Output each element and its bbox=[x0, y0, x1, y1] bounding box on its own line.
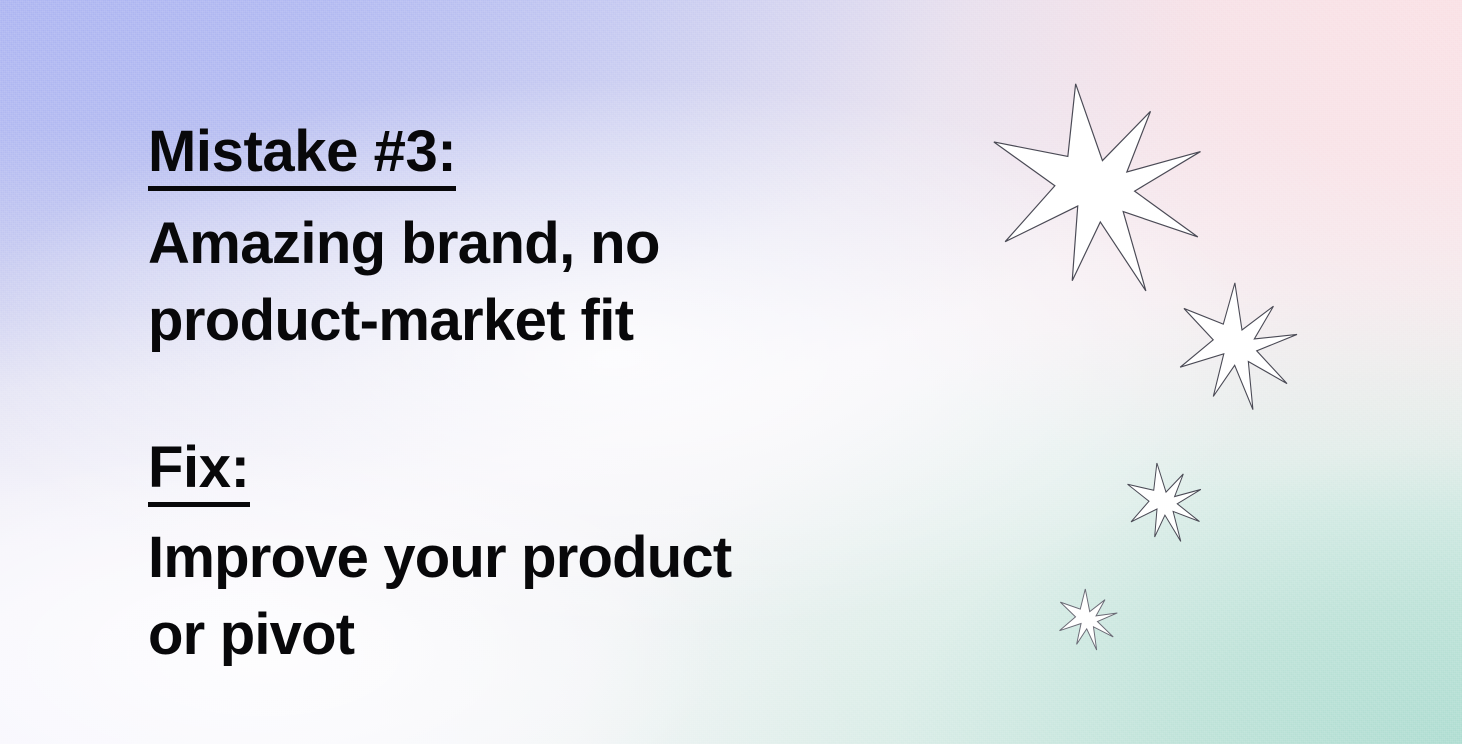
sparkle-star-small-icon bbox=[1125, 459, 1205, 545]
mistake-label: Mistake #3: bbox=[148, 118, 456, 191]
mistake-line-2: product-market fit bbox=[148, 282, 968, 359]
slide-canvas: Mistake #3: Amazing brand, no product-ma… bbox=[0, 0, 1462, 744]
sparkle-star-tiny-icon bbox=[1056, 586, 1120, 652]
sparkle-star-medium-icon bbox=[1172, 275, 1305, 415]
slide-text-block: Mistake #3: Amazing brand, no product-ma… bbox=[148, 118, 968, 673]
mistake-group: Mistake #3: Amazing brand, no product-ma… bbox=[148, 118, 968, 360]
fix-line-2: or pivot bbox=[148, 596, 968, 673]
fix-group: Fix: Improve your product or pivot bbox=[148, 434, 968, 674]
fix-line-1: Improve your product bbox=[148, 519, 968, 596]
sparkle-star-large-icon bbox=[986, 71, 1215, 303]
fix-label: Fix: bbox=[148, 434, 250, 507]
mistake-line-1: Amazing brand, no bbox=[148, 205, 968, 282]
fix-body: Improve your product or pivot bbox=[148, 519, 968, 673]
mistake-body: Amazing brand, no product-market fit bbox=[148, 205, 968, 359]
